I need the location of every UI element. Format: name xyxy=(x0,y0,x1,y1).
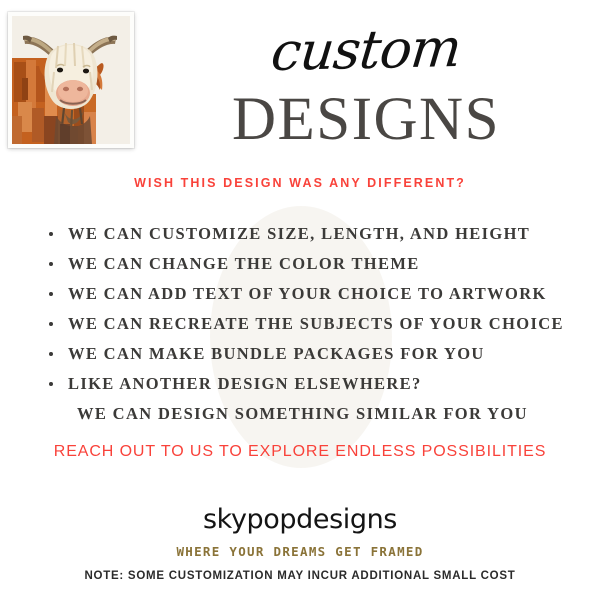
list-item: LIKE ANOTHER DESIGN ELSEWHERE? xyxy=(44,369,589,399)
brand-tagline: WHERE YOUR DREAMS GET FRAMED xyxy=(0,544,600,559)
list-item: WE CAN CHANGE THE COLOR THEME xyxy=(44,249,589,279)
list-item: WE CAN RECREATE THE SUBJECTS OF YOUR CHO… xyxy=(44,309,589,339)
fine-print-note: NOTE: SOME CUSTOMIZATION MAY INCUR ADDIT… xyxy=(0,570,600,582)
customization-feature-list: WE CAN CUSTOMIZE SIZE, LENGTH, AND HEIGH… xyxy=(44,219,589,429)
brand-name: skypopdesigns xyxy=(0,505,600,535)
list-item: WE CAN MAKE BUNDLE PACKAGES FOR YOU xyxy=(44,339,589,369)
call-to-action-text: REACH OUT TO US TO EXPLORE ENDLESS POSSI… xyxy=(0,443,600,461)
promo-graphic-canvas: custom DESIGNS WISH THIS DESIGN WAS ANY … xyxy=(0,0,600,600)
list-item-continuation: WE CAN DESIGN SOMETHING SIMILAR FOR YOU xyxy=(44,399,589,429)
list-item: WE CAN CUSTOMIZE SIZE, LENGTH, AND HEIGH… xyxy=(44,219,589,249)
page-title-script: custom xyxy=(137,19,595,81)
footer-block: skypopdesigns WHERE YOUR DREAMS GET FRAM… xyxy=(0,505,600,582)
list-item: WE CAN ADD TEXT OF YOUR CHOICE TO ARTWOR… xyxy=(44,279,589,309)
subheading-question: WISH THIS DESIGN WAS ANY DIFFERENT? xyxy=(0,176,600,190)
highland-cow-painting-image xyxy=(12,16,130,144)
page-title-serif: DESIGNS xyxy=(140,89,592,150)
highland-cow-artwork-svg xyxy=(12,16,130,144)
framed-artwork-thumbnail[interactable] xyxy=(8,12,134,148)
headline-block: custom DESIGNS xyxy=(140,8,592,150)
